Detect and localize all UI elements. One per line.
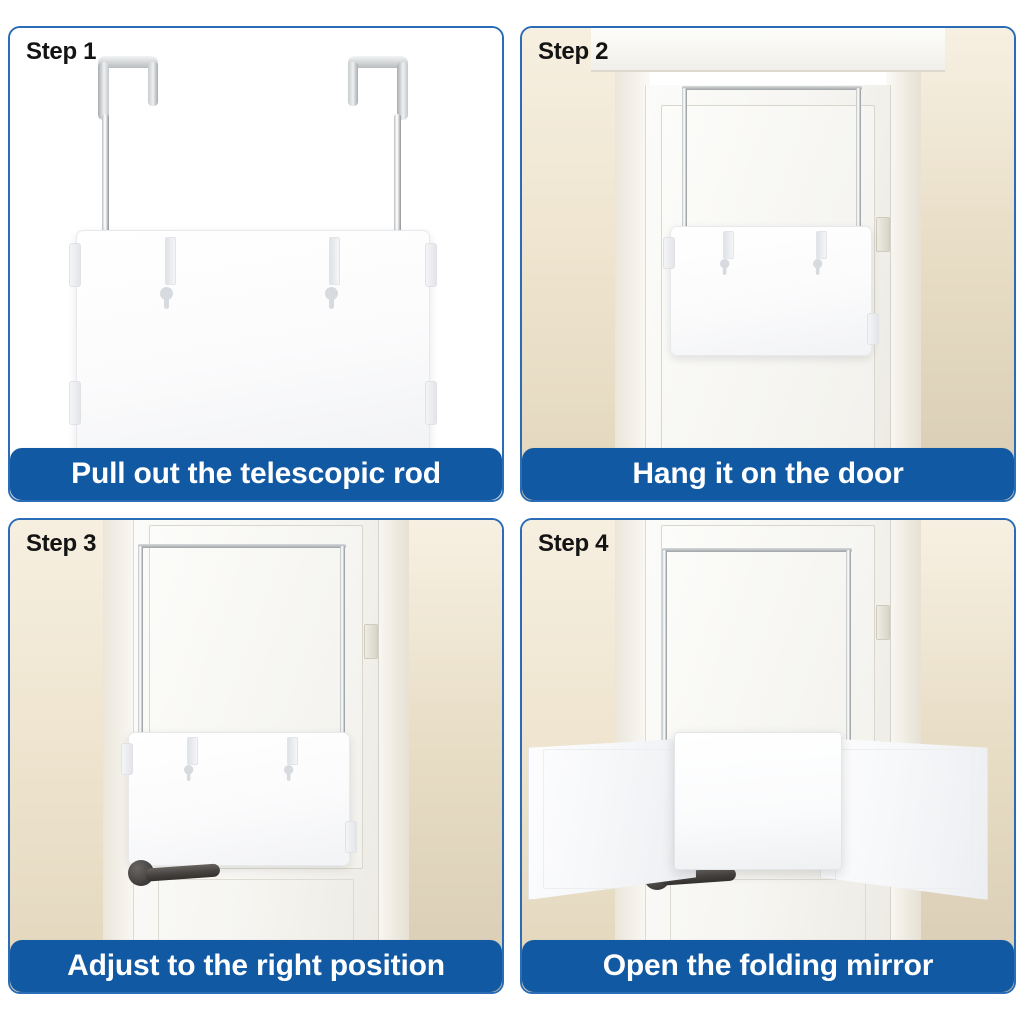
step-1-caption: Pull out the telescopic rod (10, 448, 502, 500)
hinge-tab-left-2 (663, 237, 675, 269)
keyhole-slot-left-3 (184, 765, 193, 781)
hinge-tab-left-3 (121, 743, 133, 775)
keyhole-stem-left-3 (187, 771, 191, 780)
hook-long-leg-right (397, 62, 408, 120)
step-1-label: Step 1 (26, 38, 96, 66)
keyhole-slot-left-2 (720, 259, 729, 275)
step-4-label: Step 4 (538, 530, 608, 558)
keyhole-slot-right-2 (813, 259, 822, 275)
hook-long-leg-left (98, 62, 109, 120)
hinge-tab-right-3 (345, 821, 357, 853)
step-4-stage: Step 4 Open the folding mirror (520, 518, 1016, 994)
rod-slot-right (329, 237, 340, 285)
door-hinge-3 (364, 624, 378, 659)
folded-mirror-back-panel (76, 230, 430, 454)
step-card-1: Step 1 (8, 26, 504, 502)
step-1-stage: Step 1 (8, 26, 504, 502)
step-3-stage: Step 3 Adjust to t (8, 518, 504, 994)
telescopic-rod-right-2 (856, 88, 861, 248)
hinge-tab-left-lower (69, 381, 81, 425)
rod-slot-left-2 (723, 231, 734, 259)
telescopic-rod-right-3 (340, 546, 345, 758)
step-4-caption: Open the folding mirror (522, 940, 1014, 992)
hinge-tab-left-upper (69, 243, 81, 287)
telescopic-rod-left-4 (662, 550, 667, 742)
wall-right-3 (399, 520, 502, 992)
rod-slot-left-3 (187, 737, 198, 765)
door-header-trim-2 (591, 28, 945, 72)
step-3-label: Step 3 (26, 530, 96, 558)
door-hinge-4 (876, 605, 890, 640)
step-2-caption: Hang it on the door (522, 448, 1014, 500)
rod-slot-right-3 (287, 737, 298, 765)
mirror-wing-right (820, 738, 988, 900)
keyhole-slot-right-3 (284, 765, 293, 781)
keyhole-stem-left (164, 296, 169, 309)
folded-mirror-back-panel-2 (670, 226, 872, 356)
rod-slot-right-2 (816, 231, 827, 259)
door-hinge-2 (876, 217, 890, 252)
mirror-wing-left (528, 738, 696, 900)
folded-mirror-back-panel-3 (128, 732, 350, 866)
telescopic-rod-left-2 (682, 88, 687, 248)
mirror-center-panel (674, 732, 842, 870)
hook-crossbar-3 (138, 544, 346, 548)
hook-crossbar-4 (662, 548, 852, 552)
telescopic-rod-right-4 (846, 550, 851, 742)
hook-crossbar-2 (682, 86, 862, 90)
door-jamb-right-2 (886, 28, 920, 500)
step-2-label: Step 2 (538, 38, 608, 66)
hinge-tab-right-2 (867, 313, 879, 345)
steps-grid: Step 1 (0, 0, 1024, 1024)
wall-left-2 (522, 28, 625, 500)
mirror-wing-left-surface (543, 749, 681, 889)
keyhole-slot-right (325, 287, 338, 309)
telescopic-rod-left-3 (138, 546, 143, 758)
step-2-stage: Step 2 Hang it on the door (520, 26, 1016, 502)
step-3-caption: Adjust to the right position (10, 940, 502, 992)
keyhole-stem-left-2 (723, 265, 727, 274)
step-card-3: Step 3 Adjust to t (8, 518, 504, 994)
wall-left-3 (10, 520, 113, 992)
rod-slot-left (165, 237, 176, 285)
mirror-wing-right-surface (835, 749, 973, 889)
keyhole-stem-right (329, 296, 334, 309)
door-jamb-right-3 (374, 520, 408, 992)
hook-short-leg-right (348, 62, 358, 106)
keyhole-stem-right-2 (816, 265, 820, 274)
step-card-2: Step 2 Hang it on the door (520, 26, 1016, 502)
hinge-tab-right-lower (425, 381, 437, 425)
step-card-4: Step 4 Open the folding mirror (520, 518, 1016, 994)
keyhole-stem-right-3 (287, 771, 291, 780)
wall-right-2 (911, 28, 1014, 500)
hook-short-leg-left (148, 62, 158, 106)
hinge-tab-right-upper (425, 243, 437, 287)
keyhole-slot-left (160, 287, 173, 309)
